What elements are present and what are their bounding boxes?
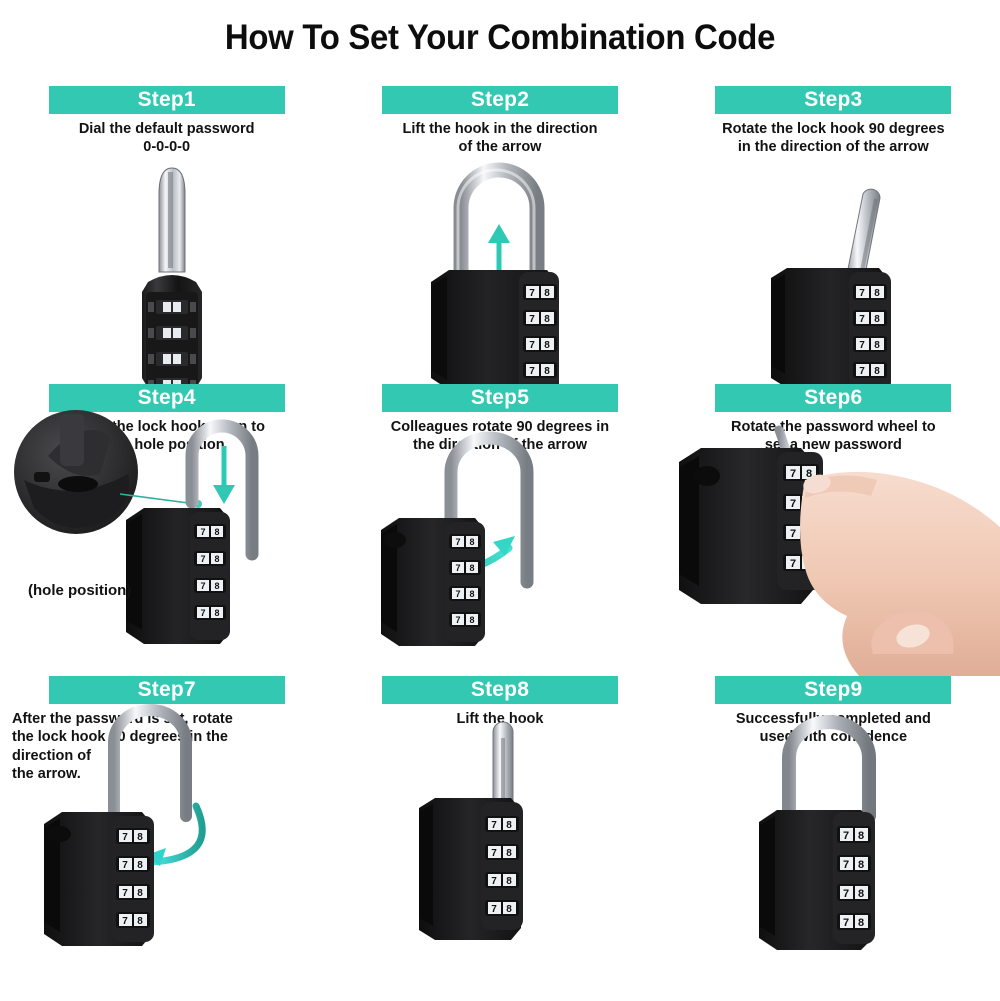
svg-text:7: 7 [456, 615, 461, 625]
step-panel-9: Step9 Successfully completed and used wi… [667, 676, 1000, 996]
arrow-curved-counterclockwise-icon [144, 806, 202, 866]
svg-text:7: 7 [492, 820, 498, 831]
step-panel-4: Step4 Press the lock hook down to the ho… [0, 384, 333, 676]
svg-text:8: 8 [137, 832, 143, 843]
hole-position-caption: (hole position) [28, 582, 131, 599]
svg-text:8: 8 [545, 288, 551, 299]
step-header-4: Step4 [49, 384, 285, 412]
svg-text:7: 7 [456, 537, 461, 547]
step-header-2: Step2 [382, 86, 618, 114]
hand-icon [800, 472, 1000, 676]
svg-text:8: 8 [858, 917, 864, 929]
svg-text:7: 7 [456, 589, 461, 599]
svg-text:8: 8 [137, 888, 143, 899]
svg-text:8: 8 [874, 314, 880, 325]
svg-text:8: 8 [214, 527, 219, 537]
step-header-6: Step6 [715, 384, 951, 412]
svg-text:7: 7 [843, 917, 849, 929]
step-panel-6: Step6 Rotate the password wheel to set a… [667, 384, 1000, 676]
step-header-8: Step8 [382, 676, 618, 704]
svg-text:8: 8 [470, 537, 475, 547]
svg-text:7: 7 [122, 832, 128, 843]
svg-text:7: 7 [859, 314, 865, 325]
svg-text:7: 7 [859, 366, 865, 377]
svg-text:7: 7 [530, 314, 536, 325]
svg-text:7: 7 [790, 468, 796, 480]
svg-text:8: 8 [874, 288, 880, 299]
step-header-5: Step5 [382, 384, 618, 412]
svg-text:8: 8 [214, 554, 219, 564]
svg-text:7: 7 [530, 340, 536, 351]
step-header-9: Step9 [715, 676, 951, 704]
svg-text:8: 8 [214, 581, 219, 591]
svg-text:7: 7 [492, 904, 498, 915]
svg-text:8: 8 [507, 904, 513, 915]
svg-text:8: 8 [137, 860, 143, 871]
svg-text:8: 8 [858, 830, 864, 842]
svg-text:7: 7 [530, 288, 536, 299]
svg-text:7: 7 [200, 581, 205, 591]
page-title: How To Set Your Combination Code [30, 18, 970, 58]
svg-text:7: 7 [122, 916, 128, 927]
svg-text:7: 7 [122, 860, 128, 871]
svg-text:8: 8 [545, 340, 551, 351]
step-header-1: Step1 [49, 86, 285, 114]
svg-text:8: 8 [806, 468, 812, 480]
svg-text:8: 8 [137, 916, 143, 927]
step-panel-1: Step1 Dial the default password 0-0-0-0 [0, 86, 333, 384]
svg-text:8: 8 [858, 859, 864, 871]
svg-text:7: 7 [859, 340, 865, 351]
step-panel-7: Step7 After the password is set, rotate … [0, 676, 333, 996]
svg-text:8: 8 [507, 876, 513, 887]
step-description-6: Rotate the password wheel to set a new p… [691, 418, 976, 455]
svg-text:7: 7 [859, 288, 865, 299]
svg-text:8: 8 [545, 366, 551, 377]
svg-text:8: 8 [507, 820, 513, 831]
step-panel-5: Step5 Colleagues rotate 90 degrees in th… [333, 384, 666, 676]
step-description-7: After the password is set, rotate the lo… [12, 710, 292, 784]
svg-text:8: 8 [214, 608, 219, 618]
step-description-5: Colleagues rotate 90 degrees in the dire… [357, 418, 642, 455]
step-description-3: Rotate the lock hook 90 degrees in the d… [691, 120, 976, 157]
svg-text:8: 8 [507, 848, 513, 859]
svg-text:8: 8 [874, 340, 880, 351]
step-description-1: Dial the default password 0-0-0-0 [24, 120, 309, 157]
svg-text:7: 7 [200, 608, 205, 618]
svg-text:8: 8 [470, 589, 475, 599]
step-description-4: Press the lock hook down to the hole pos… [24, 418, 309, 455]
svg-text:7: 7 [790, 498, 796, 510]
svg-text:8: 8 [470, 615, 475, 625]
svg-text:7: 7 [456, 563, 461, 573]
svg-text:8: 8 [545, 314, 551, 325]
svg-text:7: 7 [200, 527, 205, 537]
svg-text:7: 7 [843, 888, 849, 900]
svg-text:8: 8 [806, 498, 812, 510]
svg-text:7: 7 [843, 859, 849, 871]
step-panel-3: Step3 Rotate the lock hook 90 degrees in… [667, 86, 1000, 384]
arrow-curved-clockwise-icon [393, 536, 515, 570]
svg-text:8: 8 [858, 888, 864, 900]
step-panel-8: Step8 Lift the hook [333, 676, 666, 996]
svg-text:7: 7 [492, 848, 498, 859]
step-description-2: Lift the hook in the direction of the ar… [357, 120, 642, 157]
svg-text:8: 8 [806, 558, 812, 570]
svg-text:8: 8 [470, 563, 475, 573]
step-panel-2: Step2 Lift the hook in the direction of … [333, 86, 666, 384]
step-description-9: Successfully completed and used with con… [691, 710, 976, 747]
arrow-up-icon [488, 224, 510, 282]
step-description-8: Lift the hook [357, 710, 642, 728]
svg-text:8: 8 [874, 366, 880, 377]
svg-text:8: 8 [806, 528, 812, 540]
steps-grid: Step1 Dial the default password 0-0-0-0 [0, 86, 1000, 996]
svg-text:7: 7 [122, 888, 128, 899]
svg-text:7: 7 [200, 554, 205, 564]
svg-text:7: 7 [843, 830, 849, 842]
step-header-3: Step3 [715, 86, 951, 114]
svg-text:7: 7 [790, 558, 796, 570]
svg-text:7: 7 [530, 366, 536, 377]
svg-text:7: 7 [492, 876, 498, 887]
svg-text:7: 7 [790, 528, 796, 540]
step-header-7: Step7 [49, 676, 285, 704]
